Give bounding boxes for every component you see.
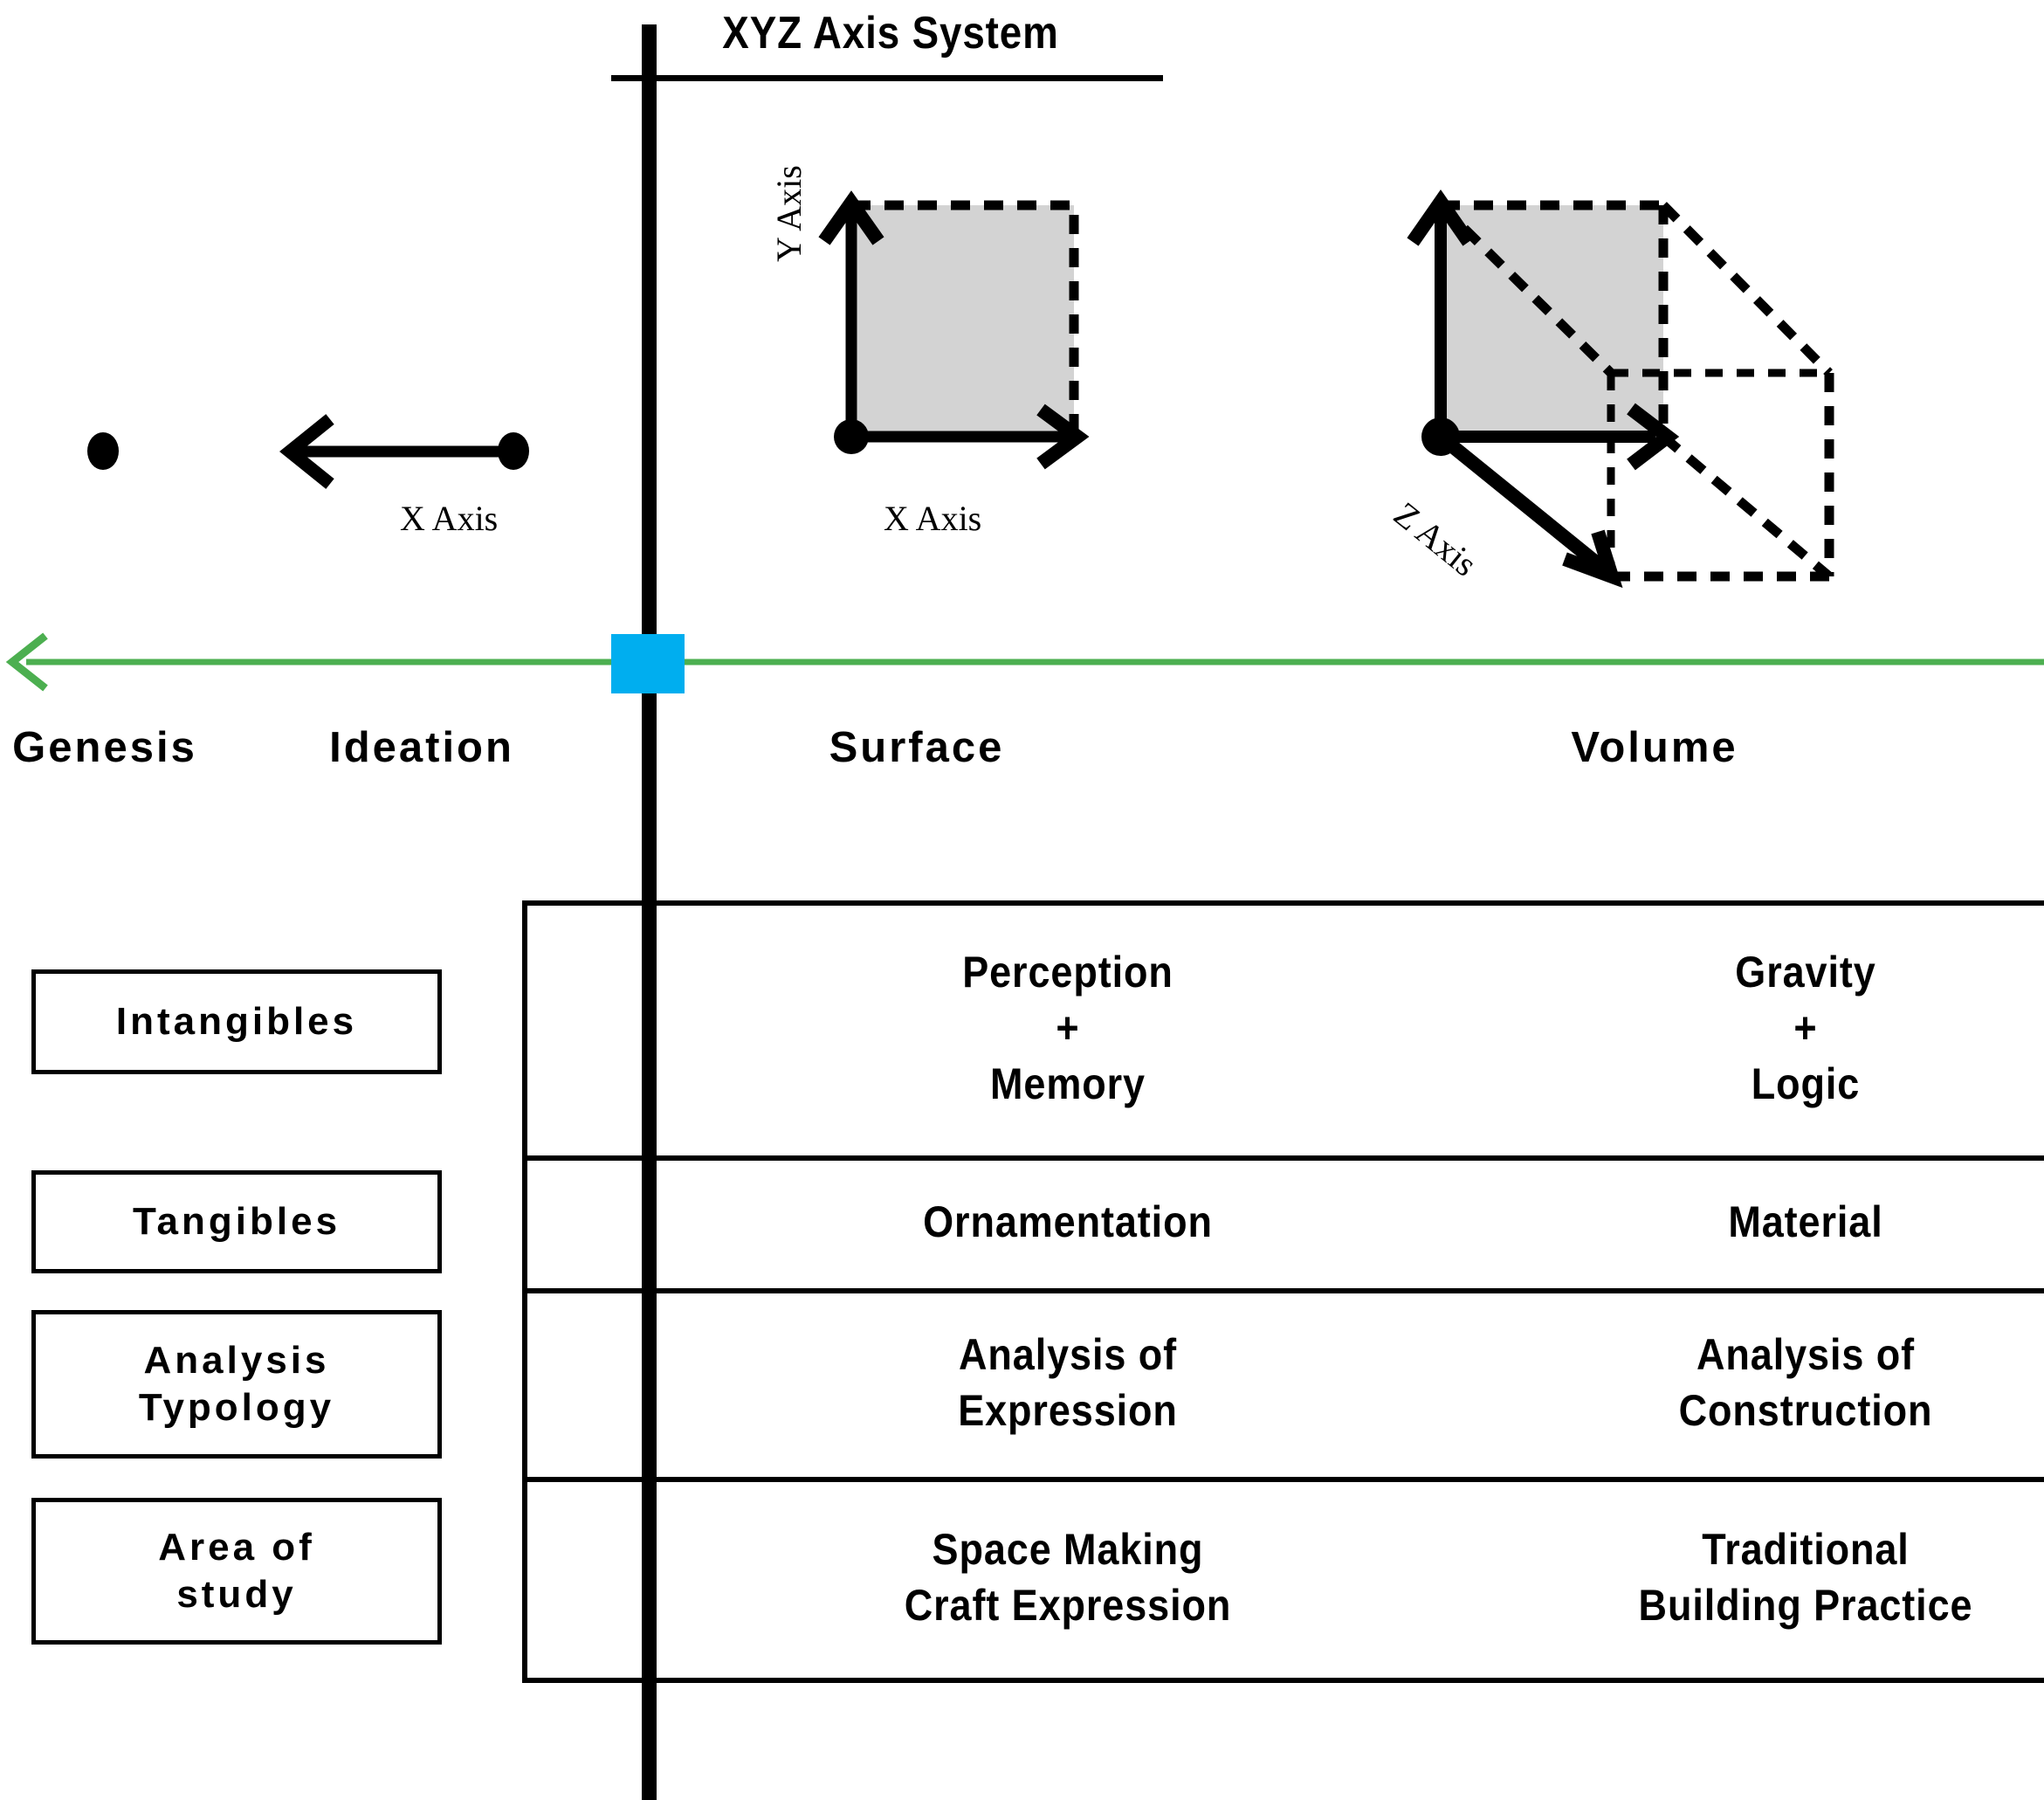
matrix-cell-area-surface: Space MakingCraft Expression [719,1477,1418,1678]
ideation-left-arrow-icon [262,410,524,493]
matrix-vline-inner [642,900,647,1683]
flow-arrowhead-icon [0,631,79,693]
page-title: XYZ Axis System [644,7,1136,59]
category-label-analysis-typology: AnalysisTypology [139,1337,334,1431]
category-label-area-of-study: Area ofstudy [158,1524,315,1617]
surface-y-axis-label: Y Axis [768,165,809,262]
category-box-area-of-study: Area ofstudy [31,1498,442,1645]
stage-caption-volume: Volume [1506,723,1803,772]
matrix-cell-tangibles-volume: Material [1531,1155,2044,1288]
surface-axis-diagram [812,183,1126,472]
category-label-tangibles: Tangibles [133,1198,341,1245]
category-box-tangibles: Tangibles [31,1170,442,1273]
matrix-vline-left [522,900,527,1683]
ideation-x-axis-label: X Axis [400,498,498,539]
stage-threshold-marker[interactable] [611,634,685,693]
category-box-intangibles: Intangibles [31,969,442,1074]
stage-caption-genesis: Genesis [0,723,210,772]
category-label-intangibles: Intangibles [116,998,357,1045]
attribute-matrix: Perception+Memory Gravity+Logic Ornament… [522,900,2044,1683]
stage-caption-surface: Surface [768,723,1065,772]
diagram-canvas: XYZ Axis System X Axis Y Axis X Axis [0,0,2044,1800]
title-underline [611,75,1163,81]
genesis-point-icon [87,432,119,470]
surface-origin-point-icon [834,419,869,454]
matrix-cell-analysis-volume: Analysis ofConstruction [1531,1288,2044,1477]
volume-origin-point-icon [1421,417,1460,456]
surface-x-axis-label: X Axis [884,498,981,539]
surface-fill [851,205,1074,437]
matrix-hline-bottom [522,1678,2044,1683]
ideation-origin-point-icon [498,432,529,470]
category-box-analysis-typology: AnalysisTypology [31,1310,442,1459]
matrix-cell-intangibles-volume: Gravity+Logic [1531,900,2044,1155]
matrix-cell-intangibles-surface: Perception+Memory [734,900,1402,1155]
stage-caption-ideation: Ideation [310,723,533,772]
process-flow-arrow [0,657,2044,667]
matrix-cell-area-volume: TraditionalBuilding Practice [1515,1477,2044,1678]
matrix-cell-analysis-surface: Analysis ofExpression [734,1288,1402,1477]
matrix-cell-tangibles-surface: Ornamentation [734,1155,1402,1288]
